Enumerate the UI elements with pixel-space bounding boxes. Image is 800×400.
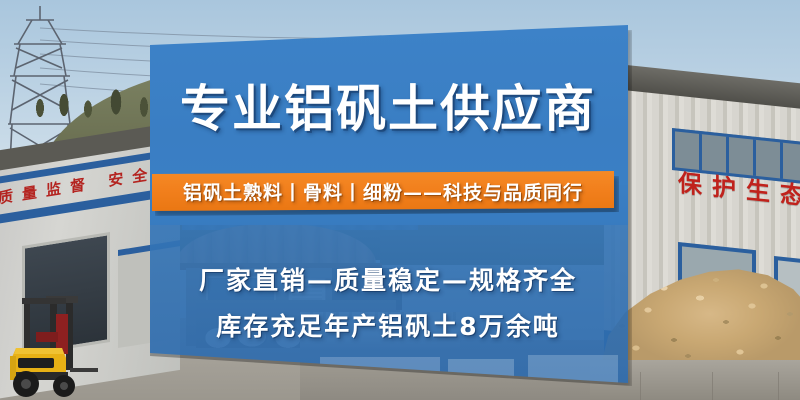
forklift-icon <box>6 296 166 400</box>
pavement-seam <box>640 372 641 400</box>
banner-sublines: 厂家直销—质量稳定—规格齐全 库存充足年产铝矾土8万余吨 <box>148 258 628 350</box>
promo-banner: 质量监督 安全为重 <box>0 0 800 400</box>
banner-headline: 专业铝矾土供应商 <box>148 78 628 140</box>
subline-1: 厂家直销—质量稳定—规格齐全 <box>148 258 628 304</box>
tagline-text: 铝矾土熟料丨骨料丨细粉——科技与品质同行 <box>183 178 583 205</box>
pavement-seam <box>712 372 713 400</box>
tagline-strip: 铝矾土熟料丨骨料丨细粉——科技与品质同行 <box>152 171 614 211</box>
pavement-seam <box>778 372 779 400</box>
subline-2: 库存充足年产铝矾土8万余吨 <box>148 304 628 350</box>
